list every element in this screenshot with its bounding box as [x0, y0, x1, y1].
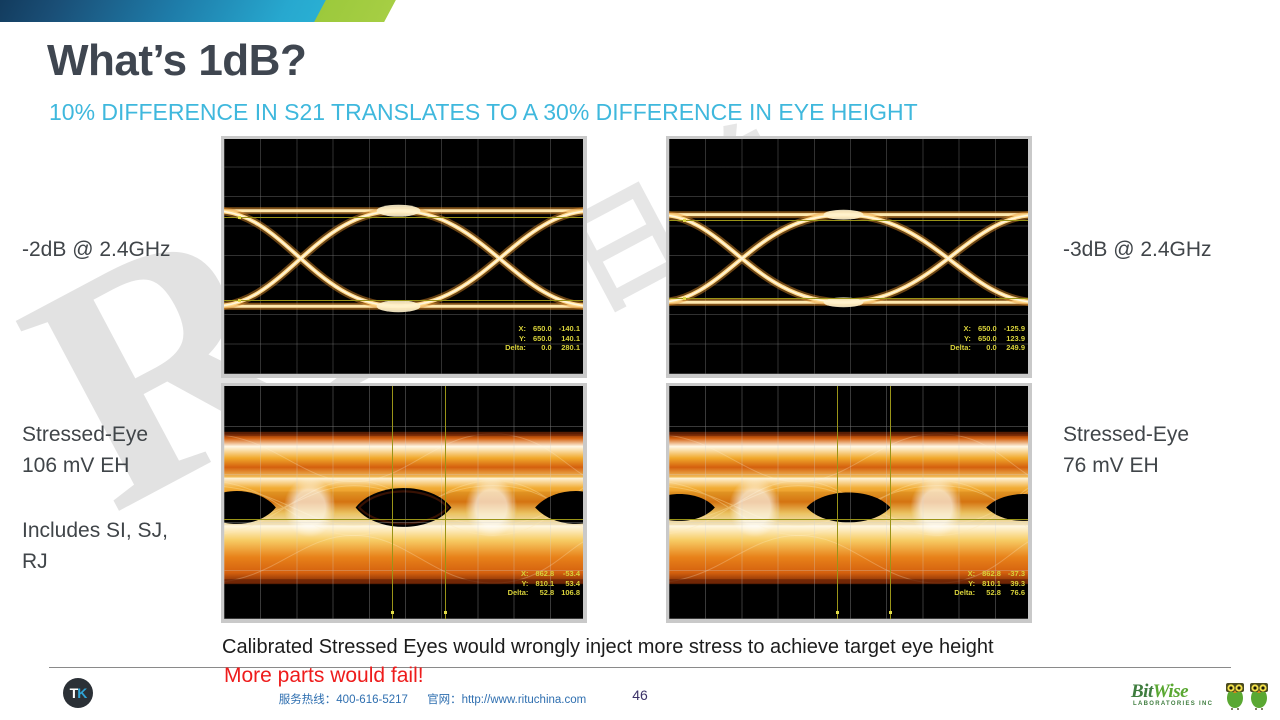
label-left-stressed-eye-line1: Stressed-Eye [22, 419, 148, 450]
label-left-impairments-line1: Includes SI, SJ, [22, 515, 232, 546]
readout-value-1: 0.0 [971, 343, 997, 353]
cursor-handle-left[interactable] [836, 611, 839, 614]
page-number: 46 [0, 687, 1280, 703]
label-left-impairments: Includes SI, SJ, RJ [22, 515, 232, 577]
readout-label: Delta: [950, 343, 971, 353]
readout-row: Y: 650.0 123.9 [950, 334, 1025, 344]
measurement-readout-top-right: X: 650.0 -125.9 Y: 650.0 123.9 Delta: 0.… [950, 305, 1025, 372]
owl-icon [1223, 680, 1247, 710]
label-right-stressed-eye-line2: 76 mV EH [1063, 450, 1189, 481]
cursor-handle-right[interactable] [444, 611, 447, 614]
cursor-line-lower [224, 300, 583, 301]
label-left-impairments-line2: RJ [22, 546, 232, 577]
readout-label: X: [505, 324, 526, 334]
readout-value-1: 810.1 [528, 579, 554, 589]
readout-row: Delta: 52.8 106.8 [508, 588, 580, 598]
bitwise-logo-bit: Bit [1131, 681, 1153, 702]
readout-value-2: 53.4 [554, 579, 580, 589]
cursor-line-upper [224, 217, 583, 218]
banner-green-shape [314, 0, 396, 22]
readout-value-2: -125.9 [997, 324, 1025, 334]
readout-row: Delta: 0.0 249.9 [950, 343, 1025, 353]
readout-value-2: 39.3 [1001, 579, 1025, 589]
readout-label: Y: [505, 334, 526, 344]
readout-value-1: 862.8 [975, 569, 1001, 579]
eye-diagram-bottom-right: X: 862.8 -37.3 Y: 810.1 39.3 Delta: 52.8… [666, 383, 1032, 623]
readout-value-2: 123.9 [997, 334, 1025, 344]
readout-value-2: 280.1 [552, 343, 580, 353]
readout-value-1: 52.8 [975, 588, 1001, 598]
readout-value-1: 650.0 [971, 334, 997, 344]
cursor-line-upper [669, 220, 1028, 221]
eye-diagram-bottom-left-canvas: X: 862.8 -53.4 Y: 810.1 53.4 Delta: 52.8… [224, 386, 583, 619]
cursor-handle-lower[interactable] [683, 297, 686, 300]
readout-row: Y: 810.1 39.3 [954, 579, 1025, 589]
bitwise-logo: BitWise LABORATORIES INC [1131, 680, 1271, 714]
caption-conclusion: Calibrated Stressed Eyes would wrongly i… [222, 636, 994, 659]
readout-row: Delta: 52.8 76.6 [954, 588, 1025, 598]
banner-blue-shape [0, 0, 356, 22]
readout-row: Delta: 0.0 280.1 [505, 343, 580, 353]
eye-diagram-top-left-canvas: X: 650.0 -140.1 Y: 650.0 140.1 Delta: 0.… [224, 139, 583, 374]
readout-value-1: 810.1 [975, 579, 1001, 589]
eye-diagram-top-left: X: 650.0 -140.1 Y: 650.0 140.1 Delta: 0.… [221, 136, 587, 378]
readout-label: Y: [950, 334, 971, 344]
cursor-handle-lower[interactable] [238, 299, 241, 302]
readout-value-2: -140.1 [552, 324, 580, 334]
readout-value-1: 650.0 [526, 334, 552, 344]
eye-diagram-top-right: X: 650.0 -125.9 Y: 650.0 123.9 Delta: 0.… [666, 136, 1032, 378]
readout-value-2: 76.6 [1001, 588, 1025, 598]
page-title: What’s 1dB? [47, 36, 306, 86]
page-subtitle: 10% DIFFERENCE IN S21 TRANSLATES TO A 30… [49, 99, 918, 126]
readout-label: X: [508, 569, 529, 579]
readout-value-2: 249.9 [997, 343, 1025, 353]
cursor-handle-left[interactable] [391, 611, 394, 614]
readout-row: Y: 810.1 53.4 [508, 579, 580, 589]
measurement-readout-top-left: X: 650.0 -140.1 Y: 650.0 140.1 Delta: 0.… [505, 305, 580, 372]
measurement-readout-bottom-left: X: 862.8 -53.4 Y: 810.1 53.4 Delta: 52.8… [508, 550, 580, 617]
cursor-handle-upper[interactable] [683, 219, 686, 222]
cursor-line-eye-height [224, 519, 583, 520]
eye-diagram-top-right-canvas: X: 650.0 -125.9 Y: 650.0 123.9 Delta: 0.… [669, 139, 1028, 374]
slide-canvas: RI 日美 What’s 1dB? 10% DIFFERENCE IN S21 … [0, 0, 1280, 720]
readout-label: Y: [508, 579, 529, 589]
readout-value-2: -37.3 [1001, 569, 1025, 579]
cursor-line-eye-width-right [890, 386, 891, 619]
readout-row: X: 862.8 -53.4 [508, 569, 580, 579]
label-right-stressed-eye-line1: Stressed-Eye [1063, 419, 1189, 450]
readout-value-2: -53.4 [554, 569, 580, 579]
caption-warning: More parts would fail! [224, 664, 424, 688]
readout-value-1: 0.0 [526, 343, 552, 353]
eye-diagram-bottom-left: X: 862.8 -53.4 Y: 810.1 53.4 Delta: 52.8… [221, 383, 587, 623]
measurement-readout-bottom-right: X: 862.8 -37.3 Y: 810.1 39.3 Delta: 52.8… [954, 550, 1025, 617]
cursor-line-eye-height [669, 519, 1028, 520]
readout-value-2: 106.8 [554, 588, 580, 598]
label-right-gain: -3dB @ 2.4GHz [1063, 234, 1212, 265]
readout-row: X: 650.0 -125.9 [950, 324, 1025, 334]
bitwise-logo-wordmark: BitWise [1131, 681, 1188, 703]
readout-label: Y: [954, 579, 975, 589]
cursor-handle-right[interactable] [889, 611, 892, 614]
label-left-stressed-eye: Stressed-Eye 106 mV EH [22, 419, 148, 481]
readout-label: Delta: [508, 588, 529, 598]
readout-value-1: 52.8 [528, 588, 554, 598]
readout-label: Delta: [954, 588, 975, 598]
bitwise-logo-wise: Wise [1153, 681, 1188, 702]
label-left-stressed-eye-line2: 106 mV EH [22, 450, 148, 481]
readout-value-1: 650.0 [526, 324, 552, 334]
cursor-line-lower [669, 298, 1028, 299]
cursor-handle-upper[interactable] [238, 216, 241, 219]
cursor-line-eye-width-left [392, 386, 393, 619]
top-banner [0, 0, 1280, 22]
readout-row: X: 862.8 -37.3 [954, 569, 1025, 579]
readout-label: X: [950, 324, 971, 334]
readout-row: X: 650.0 -140.1 [505, 324, 580, 334]
readout-value-1: 650.0 [971, 324, 997, 334]
bitwise-logo-subtitle: LABORATORIES INC [1133, 701, 1213, 707]
readout-value-2: 140.1 [552, 334, 580, 344]
readout-value-1: 862.8 [528, 569, 554, 579]
label-left-gain: -2dB @ 2.4GHz [22, 234, 171, 265]
readout-label: Delta: [505, 343, 526, 353]
cursor-line-eye-width-right [445, 386, 446, 619]
label-right-stressed-eye: Stressed-Eye 76 mV EH [1063, 419, 1189, 481]
eye-diagram-bottom-right-canvas: X: 862.8 -37.3 Y: 810.1 39.3 Delta: 52.8… [669, 386, 1028, 619]
readout-label: X: [954, 569, 975, 579]
cursor-line-eye-width-left [837, 386, 838, 619]
readout-row: Y: 650.0 140.1 [505, 334, 580, 344]
owl-icon [1247, 680, 1271, 710]
